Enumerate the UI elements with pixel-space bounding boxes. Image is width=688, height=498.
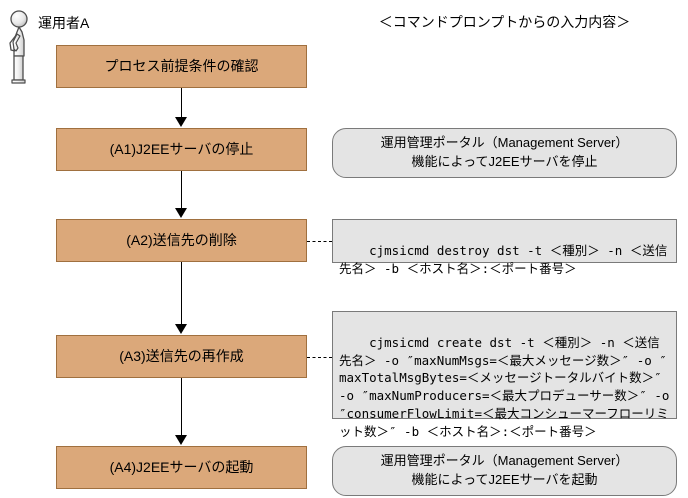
process-box-label: (A3)送信先の再作成 — [119, 347, 243, 366]
flowchart-canvas: 運用者A ＜コマンドプロンプトからの入力内容＞ プロセス前提条件の確認 (A1)… — [0, 0, 688, 498]
arrow-line-pre-to-a1 — [181, 88, 182, 118]
note-box-a2-command: cjmsicmd destroy dst -t ＜種別＞ -n ＜送信先名＞ -… — [332, 219, 677, 263]
process-box-a4[interactable]: (A4)J2EEサーバの起動 — [56, 446, 307, 489]
dashed-link-a3-to-note — [307, 357, 332, 358]
command-column-header: ＜コマンドプロンプトからの入力内容＞ — [332, 12, 677, 32]
arrow-line-a1-to-a2 — [181, 171, 182, 209]
process-box-label: (A1)J2EEサーバの停止 — [110, 140, 254, 159]
note-box-a3-command: cjmsicmd create dst -t ＜種別＞ -n ＜送信先名＞ -o… — [332, 311, 677, 419]
arrow-head-a3-to-a4 — [175, 435, 187, 445]
process-box-a1[interactable]: (A1)J2EEサーバの停止 — [56, 128, 307, 171]
note-box-a1: 運用管理ポータル（Management Server） 機能によってJ2EEサー… — [332, 128, 677, 178]
process-box-label: (A4)J2EEサーバの起動 — [110, 458, 254, 477]
note-box-text: cjmsicmd destroy dst -t ＜種別＞ -n ＜送信先名＞ -… — [339, 243, 667, 276]
note-box-text: 運用管理ポータル（Management Server） 機能によってJ2EEサー… — [381, 134, 629, 172]
actor-label: 運用者A — [38, 13, 89, 33]
arrow-head-a2-to-a3 — [175, 324, 187, 334]
note-box-text: 運用管理ポータル（Management Server） 機能によってJ2EEサー… — [381, 452, 629, 490]
process-box-a2[interactable]: (A2)送信先の削除 — [56, 219, 307, 262]
process-box-label: (A2)送信先の削除 — [126, 231, 236, 250]
arrow-head-pre-to-a1 — [175, 117, 187, 127]
process-box-precondition[interactable]: プロセス前提条件の確認 — [56, 45, 307, 88]
arrow-head-a1-to-a2 — [175, 208, 187, 218]
dashed-link-a2-to-note — [307, 241, 332, 242]
note-box-a4: 運用管理ポータル（Management Server） 機能によってJ2EEサー… — [332, 446, 677, 496]
arrow-line-a2-to-a3 — [181, 262, 182, 325]
process-box-label: プロセス前提条件の確認 — [105, 57, 259, 76]
arrow-line-a3-to-a4 — [181, 378, 182, 436]
note-box-text: cjmsicmd create dst -t ＜種別＞ -n ＜送信先名＞ -o… — [339, 335, 677, 439]
process-box-a3[interactable]: (A3)送信先の再作成 — [56, 335, 307, 378]
